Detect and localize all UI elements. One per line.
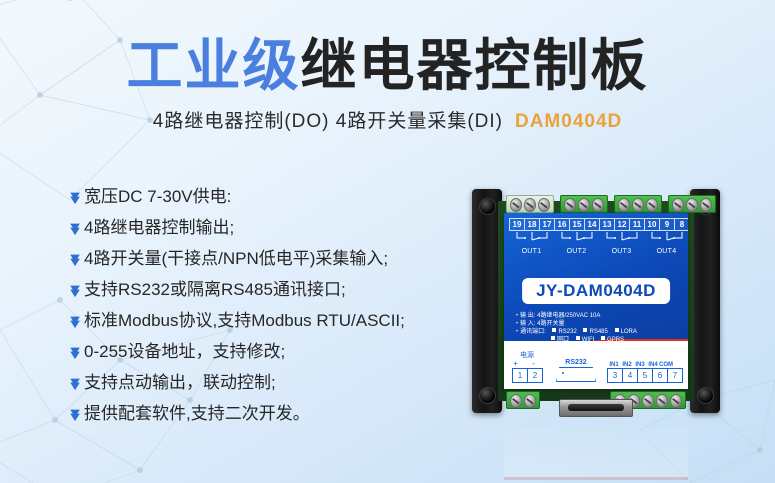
serial-port-group: RS232	[556, 359, 596, 382]
feature-text: 支持RS232或隔离RS485通讯接口;	[84, 279, 456, 301]
double-chevron-down-icon: ▼▼	[66, 316, 84, 327]
device-reflection	[472, 414, 720, 480]
screw-icon	[686, 198, 698, 212]
feature-text: 4路开关量(干接点/NPN低电平)采集输入;	[84, 248, 456, 270]
terminal-number: 7	[667, 368, 683, 383]
feature-text: 标准Modbus协议,支持Modbus RTU/ASCII;	[84, 310, 456, 332]
feature-text: 支持点动输出，联动控制;	[84, 372, 456, 394]
mounting-hole-icon	[479, 387, 496, 404]
list-item: ▼▼ 0-255设备地址，支持修改;	[66, 341, 456, 363]
terminal-number: 6	[652, 368, 668, 383]
page-title: 工业级继电器控制板	[0, 36, 775, 96]
double-chevron-down-icon: ▼▼	[66, 347, 84, 358]
input-terminal-group: IN1 IN2 IN3 IN4 COM 3 4 5 6 7	[607, 362, 682, 383]
headline-rest: 继电器控制板	[301, 34, 649, 97]
double-chevron-down-icon: ▼▼	[66, 254, 84, 265]
screw-icon	[646, 198, 658, 212]
list-item: ▼▼ 提供配套软件,支持二次开发。	[66, 403, 456, 425]
screw-icon	[618, 198, 630, 212]
product-banner: 工业级继电器控制板 4路继电器控制(DO) 4路开关量采集(DI)DAM0404…	[0, 0, 775, 483]
screw-icon	[642, 394, 654, 408]
screw-icon	[592, 198, 604, 212]
top-terminal-blocks	[498, 191, 694, 213]
reflection-label	[504, 428, 688, 480]
feature-text: 提供配套软件,支持二次开发。	[84, 403, 456, 425]
screw-icon	[538, 198, 550, 212]
feature-text: 4路继电器控制输出;	[84, 217, 456, 239]
list-item: ▼▼ 4路开关量(干接点/NPN低电平)采集输入;	[66, 248, 456, 270]
terminal-number: 2	[527, 368, 543, 383]
terminal-number: 5	[637, 368, 653, 383]
list-item: ▼▼ 宽压DC 7-30V供电:	[66, 186, 456, 208]
terminal-block	[560, 195, 608, 213]
screw-icon	[670, 394, 682, 408]
feature-text: 宽压DC 7-30V供电:	[84, 186, 456, 208]
double-chevron-down-icon: ▼▼	[66, 192, 84, 203]
terminal-number: 4	[622, 368, 638, 383]
db9-serial-connector	[559, 399, 633, 417]
list-item: ▼▼ 标准Modbus协议,支持Modbus RTU/ASCII;	[66, 310, 456, 332]
power-terminal-group: 电源 + - 1 2	[512, 352, 542, 383]
screw-icon	[672, 198, 684, 212]
list-item: ▼▼ 4路继电器控制输出;	[66, 217, 456, 239]
double-chevron-down-icon: ▼▼	[66, 223, 84, 234]
subtitle-model: DAM0404D	[515, 111, 622, 132]
serial-port-label: RS232	[556, 359, 596, 366]
terminal-block	[506, 391, 540, 409]
feature-text: 0-255设备地址，支持修改;	[84, 341, 456, 363]
headline-highlight: 工业级	[127, 34, 301, 97]
double-chevron-down-icon: ▼▼	[66, 378, 84, 389]
list-item: ▼▼ 支持RS232或隔离RS485通讯接口;	[66, 279, 456, 301]
screw-icon	[700, 198, 712, 212]
page-subtitle: 4路继电器控制(DO) 4路开关量采集(DI)DAM0404D	[0, 110, 775, 134]
list-item: ▼▼ 支持点动输出，联动控制;	[66, 372, 456, 394]
feature-list: ▼▼ 宽压DC 7-30V供电: ▼▼ 4路继电器控制输出; ▼▼ 4路开关量(…	[66, 186, 456, 434]
terminal-block	[506, 195, 554, 213]
power-polarity: + -	[512, 360, 542, 368]
mounting-hole-icon	[697, 387, 714, 404]
reflection-red	[504, 477, 688, 480]
terminal-block	[668, 195, 716, 213]
screw-icon	[524, 198, 536, 212]
screw-icon	[632, 198, 644, 212]
screw-icon	[564, 198, 576, 212]
device-bottom-strip: 电源 + - 1 2 RS232 IN1 IN2 IN3	[504, 213, 688, 387]
device-front-label: 19 18 17 OUT1 16 15 14	[504, 213, 688, 389]
terminal-number: 3	[607, 368, 623, 383]
double-chevron-down-icon: ▼▼	[66, 409, 84, 420]
screw-icon	[656, 394, 668, 408]
subtitle-text: 4路继电器控制(DO) 4路开关量采集(DI)	[153, 111, 503, 132]
terminal-block	[614, 195, 662, 213]
screw-icon	[578, 198, 590, 212]
screw-icon	[524, 394, 536, 408]
double-chevron-down-icon: ▼▼	[66, 285, 84, 296]
mounting-hole-icon	[479, 198, 496, 215]
screw-icon	[510, 394, 522, 408]
product-device-image: 19 18 17 OUT1 16 15 14	[472, 189, 720, 413]
screw-icon	[510, 198, 522, 212]
db9-connector-icon	[556, 367, 596, 382]
device-right-rail	[690, 189, 720, 413]
terminal-number: 1	[512, 368, 528, 383]
